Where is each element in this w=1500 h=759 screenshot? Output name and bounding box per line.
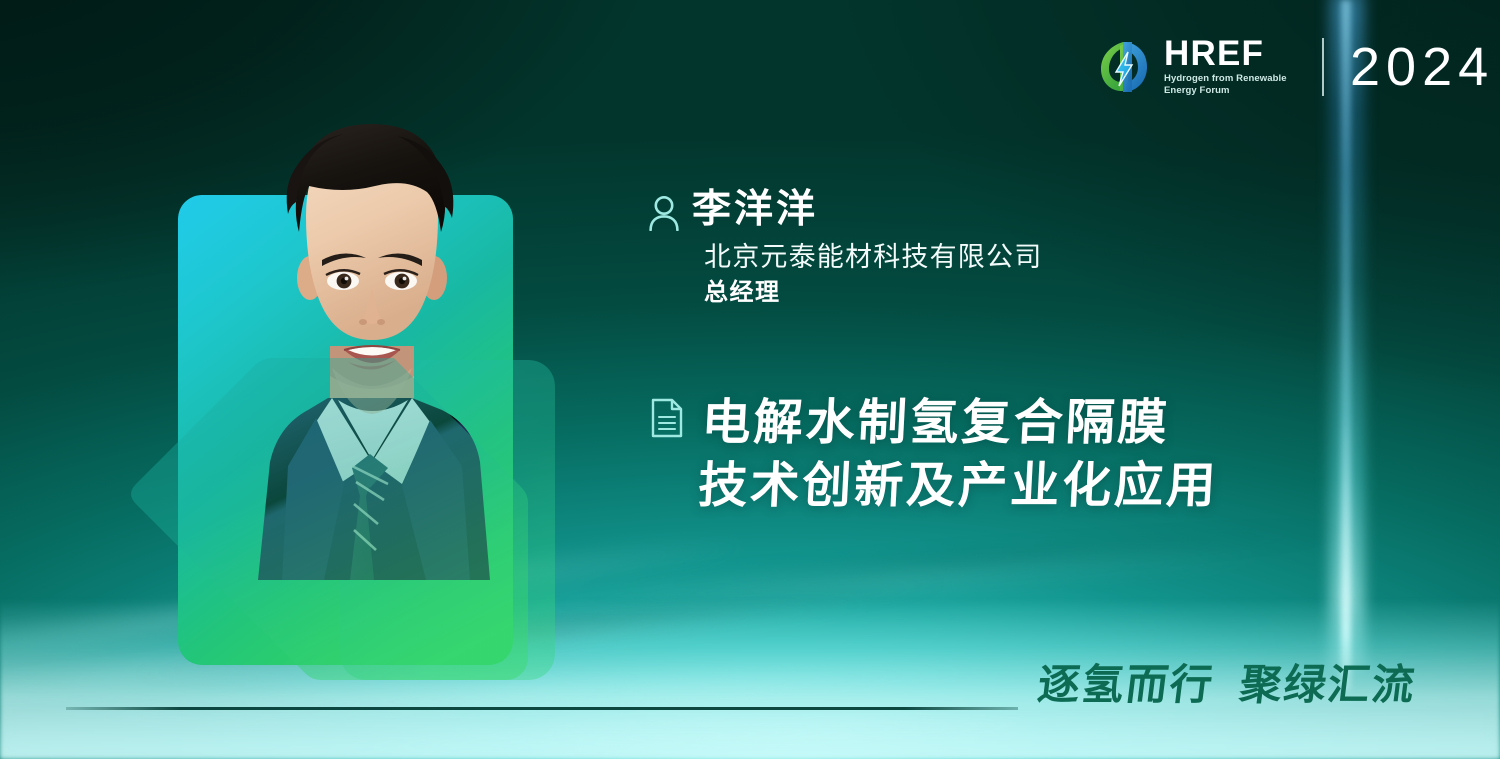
brand-subtitle: Hydrogen from Renewable Energy Forum — [1164, 73, 1294, 97]
talk-title-block: 电解水制氢复合隔膜 技术创新及产业化应用 — [650, 392, 1220, 517]
tagline-part-1: 逐氢而行 — [1035, 660, 1217, 709]
talk-title-lines: 电解水制氢复合隔膜 技术创新及产业化应用 — [697, 392, 1224, 517]
speaker-name-row: 李洋洋 — [648, 188, 1042, 232]
light-beam-core — [1341, 0, 1351, 690]
person-icon — [648, 195, 680, 231]
header-divider — [1322, 38, 1324, 96]
brand-text-block: HREF Hydrogen from Renewable Energy Foru… — [1164, 37, 1294, 98]
speaker-job-title: 总经理 — [704, 278, 1042, 308]
href-leaf-lightning-logo — [1092, 36, 1154, 98]
event-year: 2024 — [1350, 40, 1494, 94]
tagline-part-2: 聚绿汇流 — [1237, 660, 1419, 709]
brand-name: HREF — [1164, 37, 1294, 70]
document-icon — [650, 398, 684, 438]
speaker-organization: 北京元泰能材科技有限公司 — [704, 241, 1042, 275]
event-logo-row: HREF Hydrogen from Renewable Energy Foru… — [1092, 36, 1494, 98]
portrait-cluster — [150, 110, 580, 690]
speaker-name: 李洋洋 — [692, 188, 818, 232]
footer-rule — [66, 707, 1018, 710]
talk-title-line-1: 电解水制氢复合隔膜 — [700, 392, 1223, 455]
talk-title-line-2: 技术创新及产业化应用 — [697, 455, 1220, 518]
speaker-info-block: 李洋洋 北京元泰能材科技有限公司 总经理 — [648, 188, 1042, 308]
speaker-announcement-banner: HREF Hydrogen from Renewable Energy Foru… — [0, 0, 1500, 759]
glass-chevron-overlay — [126, 358, 546, 690]
event-tagline: 逐氢而行聚绿汇流 — [1035, 664, 1418, 706]
